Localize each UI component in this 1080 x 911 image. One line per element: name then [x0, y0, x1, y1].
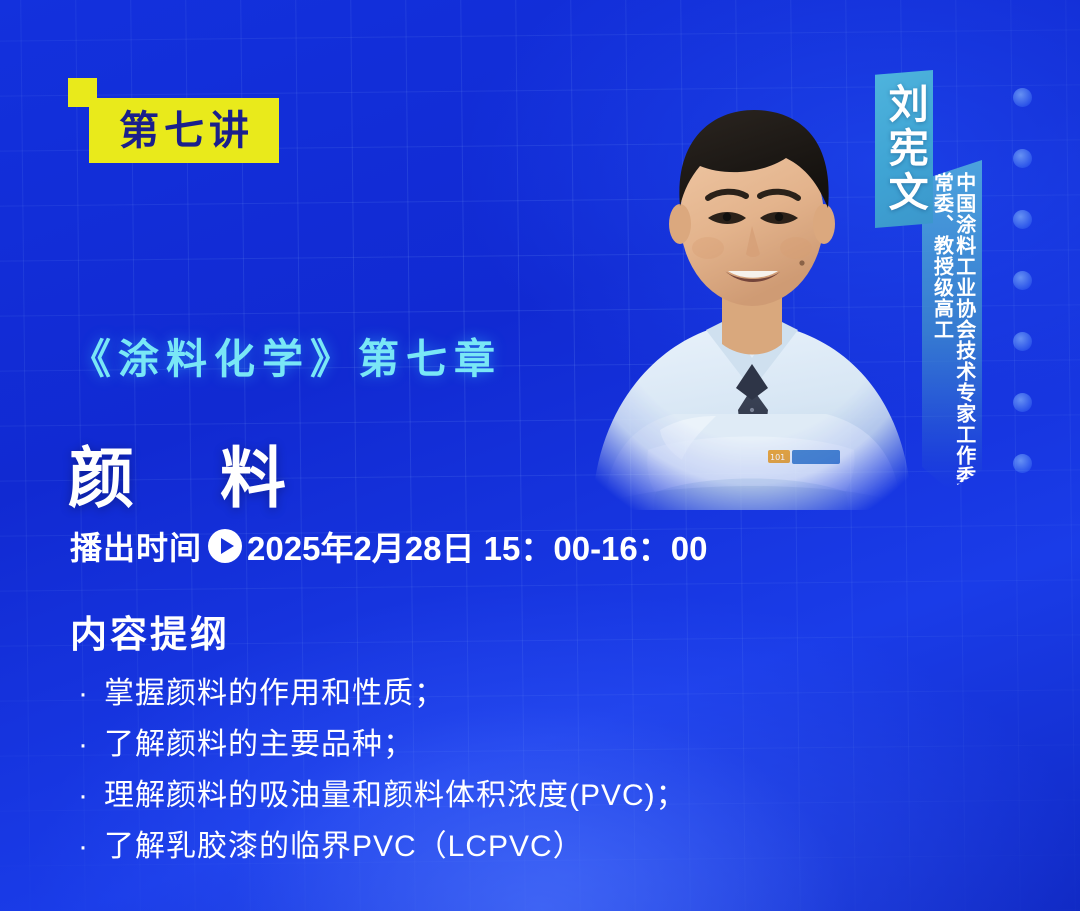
broadcast-time: 2025年2月28日 15：00-16：00 — [247, 522, 707, 570]
list-item: ·了解颜料的主要品种； — [78, 719, 687, 770]
speaker-name-ribbon: 刘宪文 — [875, 70, 933, 228]
dot-icon — [1013, 271, 1032, 290]
speaker-name: 刘宪文 — [883, 83, 924, 215]
badge-label: 第七讲 — [114, 111, 254, 151]
list-item: ·了解乳胶漆的临界PVC（LCPVC） — [78, 821, 687, 872]
dot-icon — [1013, 393, 1032, 412]
speaker-role-line-1: 中国涂料工业协会技术专家工作委员会 — [953, 172, 974, 529]
lecture-poster: 101 中国涂料工业协会技术专家工作委员会 常委、教授级高工 刘宪文 第七讲 《… — [0, 0, 1080, 911]
svg-text:101: 101 — [770, 453, 785, 462]
dot-icon — [1013, 332, 1032, 351]
decorative-dot-column — [1013, 88, 1032, 515]
bullet-glyph: · — [78, 821, 104, 872]
speaker-role-line-2: 常委、教授级高工 — [930, 172, 951, 529]
dot-icon — [1013, 210, 1032, 229]
bullet-glyph: · — [78, 668, 104, 719]
dot-icon — [1013, 88, 1032, 107]
bullet-glyph: · — [78, 719, 104, 770]
broadcast-label: 播出时间 — [70, 523, 202, 569]
outline-heading: 内容提纲 — [70, 604, 230, 658]
list-item-label: 了解颜料的主要品种； — [104, 728, 414, 761]
page-title: 颜 料 — [68, 425, 296, 521]
bullet-glyph: · — [78, 770, 104, 821]
play-icon — [208, 529, 242, 563]
list-item-label: 掌握颜料的作用和性质； — [104, 677, 445, 710]
list-item-label: 了解乳胶漆的临界PVC（LCPVC） — [104, 830, 584, 863]
course-subtitle: 《涂料化学》第七章 — [70, 325, 502, 385]
broadcast-row: 播出时间 2025年2月28日 15：00-16：00 — [70, 522, 707, 570]
list-item: ·掌握颜料的作用和性质； — [78, 668, 687, 719]
list-item: ·理解颜料的吸油量和颜料体积浓度(PVC)； — [78, 770, 687, 821]
badge-body: 第七讲 — [89, 98, 279, 163]
dot-icon — [1013, 454, 1032, 473]
dot-icon — [1013, 149, 1032, 168]
list-item-label: 理解颜料的吸油量和颜料体积浓度(PVC)； — [104, 779, 687, 812]
outline-list: ·掌握颜料的作用和性质； ·了解颜料的主要品种； ·理解颜料的吸油量和颜料体积浓… — [78, 668, 687, 872]
